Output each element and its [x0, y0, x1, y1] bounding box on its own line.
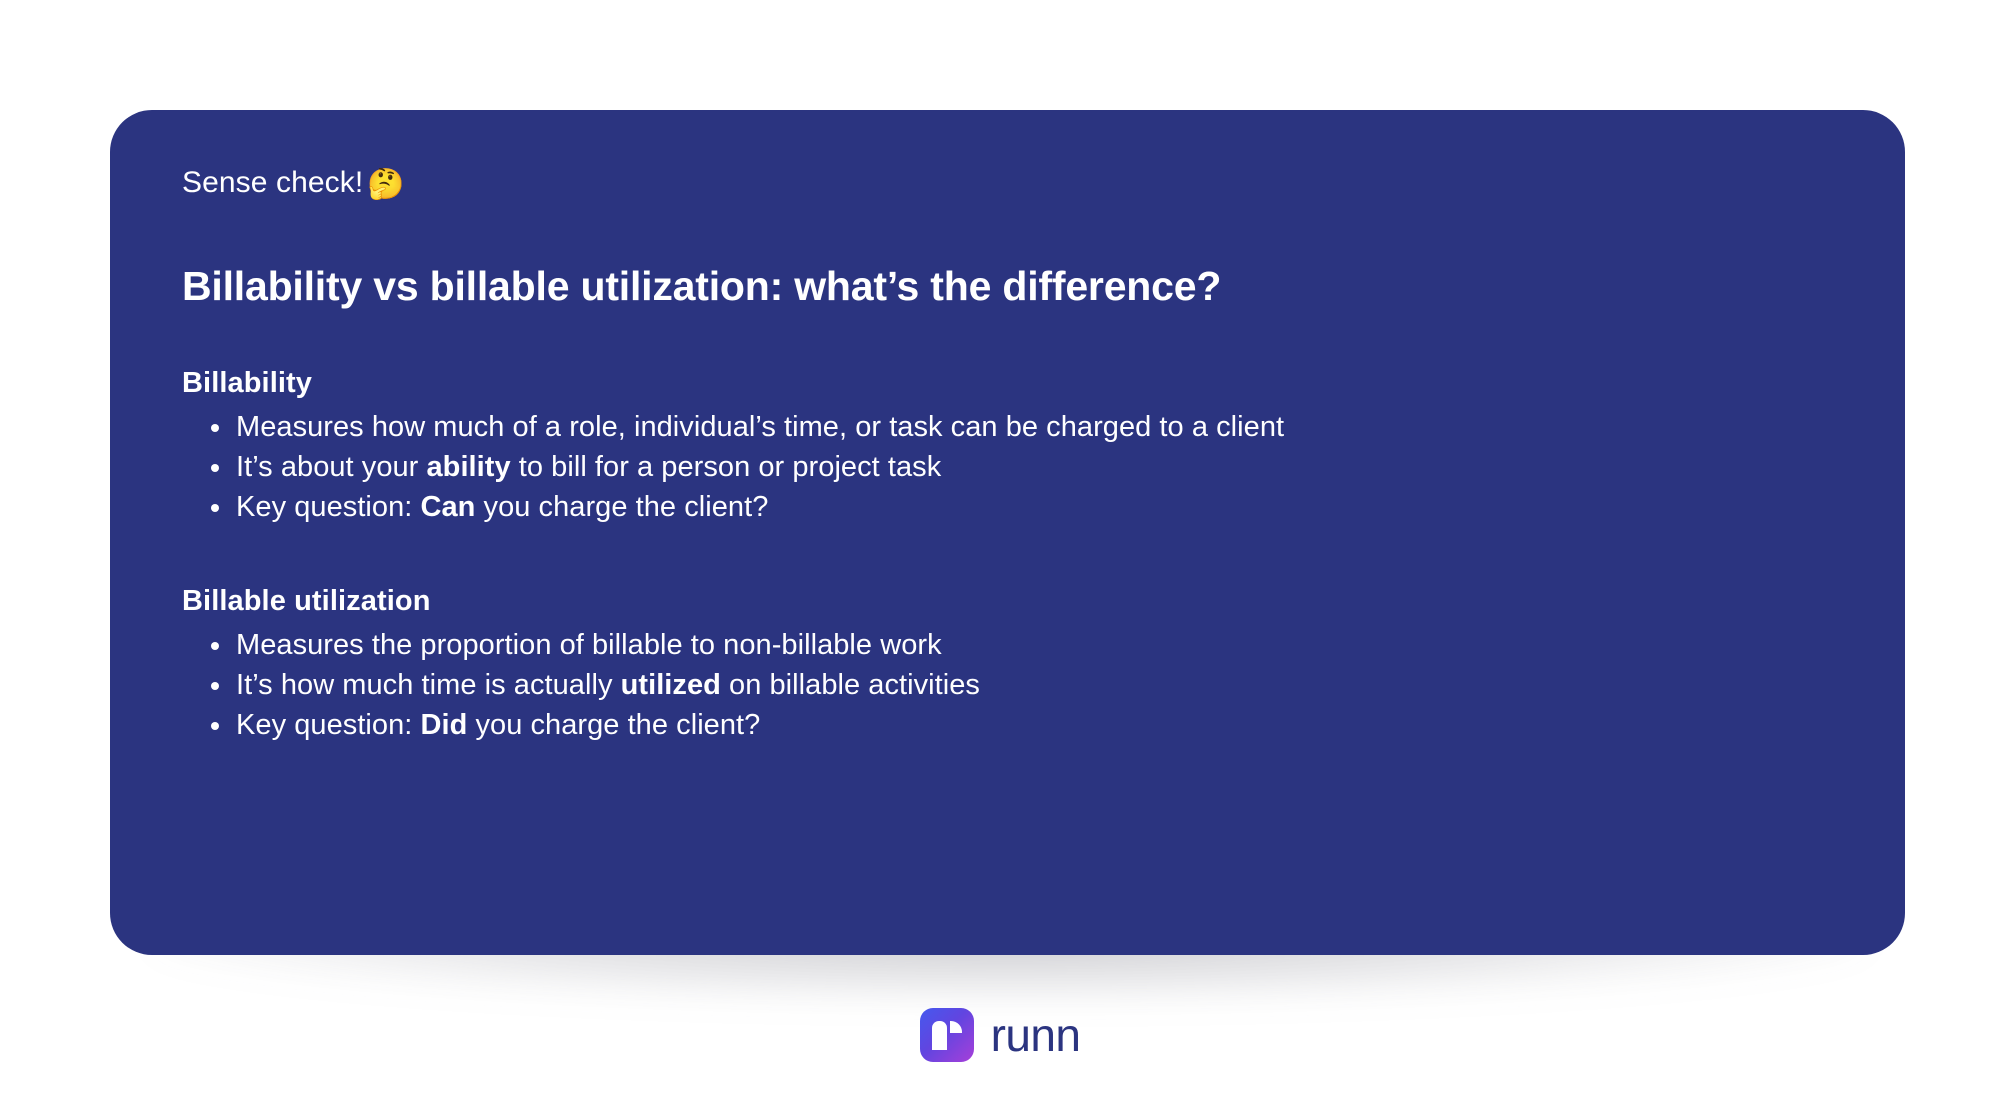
list-item-text: Measures how much of a role, individual’… [236, 411, 1284, 443]
section-billable-utilization: Billable utilization Measures the propor… [182, 527, 1833, 745]
emphasis-text: Can [421, 491, 476, 523]
info-card: Sense check!🤔 Billability vs billable ut… [110, 110, 1905, 955]
list-item-text: It’s about your [236, 451, 427, 483]
thinking-face-icon: 🤔 [367, 166, 404, 204]
runn-branding: runn [0, 1008, 2000, 1062]
list-item-text: Measures the proportion of billable to n… [236, 629, 942, 661]
bullet-dot-icon [211, 464, 219, 472]
emphasis-text: Did [421, 709, 468, 741]
slide-canvas: Sense check!🤔 Billability vs billable ut… [0, 0, 2000, 1120]
section-title: Billable utilization [182, 583, 1833, 619]
list-item-text: It’s how much time is actually [236, 669, 621, 701]
runn-logo-arm [950, 1021, 962, 1033]
emphasis-text: utilized [621, 669, 721, 701]
list-item: Key question: Can you charge the client? [182, 487, 1833, 527]
bullet-dot-icon [211, 424, 219, 432]
list-item: Measures the proportion of billable to n… [182, 625, 1833, 665]
runn-logo-stem [932, 1021, 947, 1050]
section-billability: Billability Measures how much of a role,… [182, 311, 1833, 527]
list-item: Key question: Did you charge the client? [182, 705, 1833, 745]
bullet-dot-icon [211, 504, 219, 512]
bullet-dot-icon [211, 722, 219, 730]
list-item-text: you charge the client? [467, 709, 760, 741]
card-headline: Billability vs billable utilization: wha… [182, 204, 1833, 311]
card-eyebrow: Sense check!🤔 [182, 158, 1833, 204]
list-item-text: to bill for a person or project task [511, 451, 942, 483]
billable-utilization-bullet-list: Measures the proportion of billable to n… [182, 625, 1833, 745]
section-title: Billability [182, 365, 1833, 401]
list-item: Measures how much of a role, individual’… [182, 407, 1833, 447]
list-item-text: Key question: [236, 709, 421, 741]
list-item: It’s about your ability to bill for a pe… [182, 447, 1833, 487]
list-item-text: Key question: [236, 491, 421, 523]
bullet-dot-icon [211, 682, 219, 690]
list-item-text: you charge the client? [475, 491, 768, 523]
runn-wordmark: runn [991, 1012, 1081, 1058]
billability-bullet-list: Measures how much of a role, individual’… [182, 407, 1833, 527]
runn-logo-icon [920, 1008, 974, 1062]
bullet-dot-icon [211, 642, 219, 650]
emphasis-text: ability [427, 451, 511, 483]
list-item-text: on billable activities [721, 669, 980, 701]
list-item: It’s how much time is actually utilized … [182, 665, 1833, 705]
card-eyebrow-text: Sense check! [182, 166, 363, 199]
